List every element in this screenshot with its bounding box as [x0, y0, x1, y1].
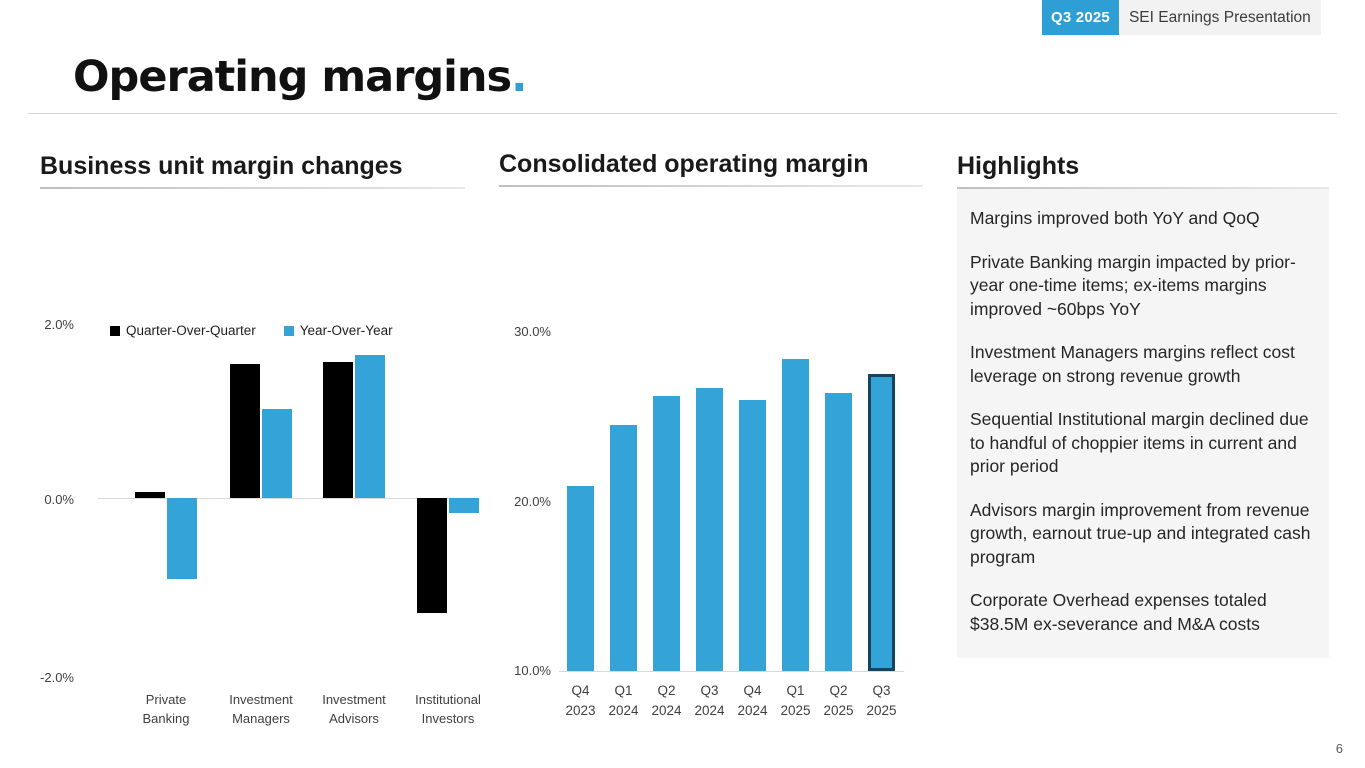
chart2-category-line: 2025 — [772, 701, 820, 721]
chart1-category-line: Investors — [403, 709, 493, 728]
highlight-item-5: Corporate Overhead expenses totaled $38.… — [970, 589, 1316, 636]
chart1-ytick-2: -2.0% — [24, 670, 74, 685]
chart2-category-6: Q22025 — [815, 681, 863, 721]
title-accent-dot: . — [511, 52, 526, 102]
chart1-category-line: Banking — [121, 709, 211, 728]
title-divider — [28, 113, 1337, 114]
highlights-heading: Highlights — [957, 152, 1329, 181]
chart2-category-line: 2024 — [643, 701, 691, 721]
consolidated-operating-margin-chart: Consolidated operating margin 30.0% 20.0… — [499, 150, 924, 660]
chart2-bar-6 — [825, 393, 852, 671]
chart2-category-line: Q3 — [858, 681, 906, 701]
chart2-bar-2 — [653, 396, 680, 671]
page-title-text: Operating margins — [73, 52, 511, 102]
chart1-category-line: Managers — [216, 709, 306, 728]
chart1-bar-yoy-3 — [449, 498, 479, 513]
chart1-legend: Quarter-Over-Quarter Year-Over-Year — [110, 323, 393, 338]
chart2-heading: Consolidated operating margin — [499, 150, 924, 179]
highlight-item-3: Sequential Institutional margin declined… — [970, 408, 1316, 479]
chart2-bar-5 — [782, 359, 809, 671]
chart2-bar-4 — [739, 400, 766, 671]
chart1-heading: Business unit margin changes — [40, 152, 465, 181]
highlight-item-1: Private Banking margin impacted by prior… — [970, 251, 1316, 322]
chart1-category-line: Investment — [309, 690, 399, 709]
page-title: Operating margins. — [73, 52, 526, 102]
chart2-bar-3 — [696, 388, 723, 671]
chart2-category-line: 2024 — [600, 701, 648, 721]
chart2-category-2: Q22024 — [643, 681, 691, 721]
legend-label-qoq: Quarter-Over-Quarter — [126, 323, 256, 338]
chart2-category-4: Q42024 — [729, 681, 777, 721]
chart1-bar-qoq-0 — [135, 492, 165, 498]
legend-item-qoq: Quarter-Over-Quarter — [110, 323, 256, 338]
chart2-category-line: Q1 — [772, 681, 820, 701]
chart2-bar-0 — [567, 486, 594, 671]
legend-swatch-qoq-icon — [110, 326, 120, 336]
legend-label-yoy: Year-Over-Year — [300, 323, 393, 338]
chart2-category-line: 2025 — [858, 701, 906, 721]
chart2-category-line: 2023 — [557, 701, 605, 721]
chart1-ytick-0: 2.0% — [24, 317, 74, 332]
chart2-category-line: Q4 — [729, 681, 777, 701]
legend-item-yoy: Year-Over-Year — [284, 323, 393, 338]
chart2-category-line: Q4 — [557, 681, 605, 701]
chart1-zero-axis — [98, 498, 465, 499]
chart2-divider — [499, 185, 923, 187]
chart2-ytick-1: 20.0% — [493, 494, 551, 509]
chart2-category-line: 2024 — [686, 701, 734, 721]
chart2-bar-7 — [868, 374, 895, 671]
chart1-ytick-1: 0.0% — [24, 492, 74, 507]
chart1-category-3: InstitutionalInvestors — [403, 690, 493, 728]
chart1-bar-yoy-0 — [167, 498, 197, 579]
chart2-category-line: Q3 — [686, 681, 734, 701]
chart2-category-7: Q32025 — [858, 681, 906, 721]
chart1-bar-qoq-2 — [323, 362, 353, 499]
chart1-category-2: InvestmentAdvisors — [309, 690, 399, 728]
chart1-bar-qoq-1 — [230, 364, 260, 498]
highlights-list: Margins improved both YoY and QoQPrivate… — [957, 189, 1329, 658]
chart1-category-line: Advisors — [309, 709, 399, 728]
chart1-divider — [40, 187, 465, 189]
chart1-category-line: Institutional — [403, 690, 493, 709]
chart2-category-line: Q2 — [643, 681, 691, 701]
highlight-item-0: Margins improved both YoY and QoQ — [970, 207, 1316, 231]
slide-header: Q3 2025 SEI Earnings Presentation — [1042, 0, 1330, 35]
business-unit-margin-chart: Business unit margin changes 2.0% 0.0% -… — [40, 152, 465, 662]
chart1-bar-yoy-2 — [355, 355, 385, 498]
highlight-item-4: Advisors margin improvement from revenue… — [970, 499, 1316, 570]
chart1-bar-yoy-1 — [262, 409, 292, 498]
page-number: 6 — [1336, 741, 1343, 756]
chart2-category-line: 2025 — [815, 701, 863, 721]
chart2-category-0: Q42023 — [557, 681, 605, 721]
chart2-bar-1 — [610, 425, 637, 671]
chart2-baseline-axis — [559, 671, 904, 672]
chart2-category-line: 2024 — [729, 701, 777, 721]
chart1-category-0: PrivateBanking — [121, 690, 211, 728]
chart2-ytick-0: 30.0% — [493, 324, 551, 339]
deck-title: SEI Earnings Presentation — [1119, 0, 1321, 35]
chart2-category-3: Q32024 — [686, 681, 734, 721]
chart2-category-5: Q12025 — [772, 681, 820, 721]
chart1-category-line: Private — [121, 690, 211, 709]
quarter-badge: Q3 2025 — [1042, 0, 1119, 35]
chart2-category-1: Q12024 — [600, 681, 648, 721]
chart1-bar-qoq-3 — [417, 498, 447, 613]
chart2-category-line: Q2 — [815, 681, 863, 701]
chart2-ytick-2: 10.0% — [493, 663, 551, 678]
chart1-plot-area: 2.0% 0.0% -2.0% Quarter-Over-Quarter Yea… — [40, 227, 465, 597]
highlight-item-2: Investment Managers margins reflect cost… — [970, 341, 1316, 388]
highlights-panel: Highlights Margins improved both YoY and… — [957, 152, 1329, 658]
chart1-category-1: InvestmentManagers — [216, 690, 306, 728]
chart1-category-line: Investment — [216, 690, 306, 709]
legend-swatch-yoy-icon — [284, 326, 294, 336]
chart2-plot-area: 30.0% 20.0% 10.0% Q42023Q12024Q22024Q320… — [499, 228, 924, 628]
chart2-category-line: Q1 — [600, 681, 648, 701]
